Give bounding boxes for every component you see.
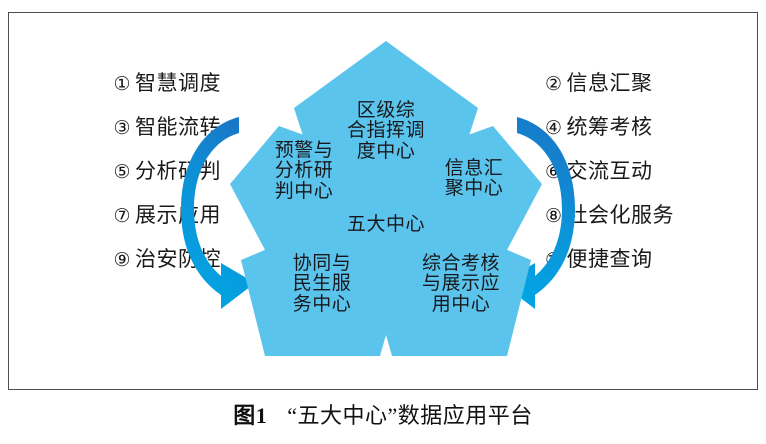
- figure-caption-number: 图1: [233, 403, 267, 428]
- pentagon-cluster: 区级综 合指挥调 度中心 预警与 分析研 判中心 信息汇 聚中心 协同与 民生服…: [195, 29, 577, 379]
- figure-caption-title: “五大中心”数据应用平台: [287, 403, 533, 428]
- feature-label-10: 便捷查询: [567, 247, 653, 271]
- figure-frame: ①智慧调度 ③智能流转 ⑤分析研判 ⑦展示应用 ⑨治安防控 ②信息汇聚 ④统筹考…: [8, 12, 758, 390]
- feature-number-3: ③: [113, 117, 131, 139]
- feature-number-5: ⑤: [113, 161, 131, 183]
- feature-label-4: 统筹考核: [567, 115, 653, 139]
- figure-caption: 图1 “五大中心”数据应用平台: [0, 398, 766, 430]
- pentagon-cluster-svg: [195, 29, 577, 379]
- feature-number-9: ⑨: [113, 249, 131, 271]
- feature-number-7: ⑦: [113, 205, 131, 227]
- feature-label-6: 交流互动: [567, 159, 653, 183]
- feature-label-8: 社会化服务: [567, 203, 675, 227]
- feature-label-2: 信息汇聚: [567, 71, 653, 95]
- feature-number-1: ①: [113, 73, 131, 95]
